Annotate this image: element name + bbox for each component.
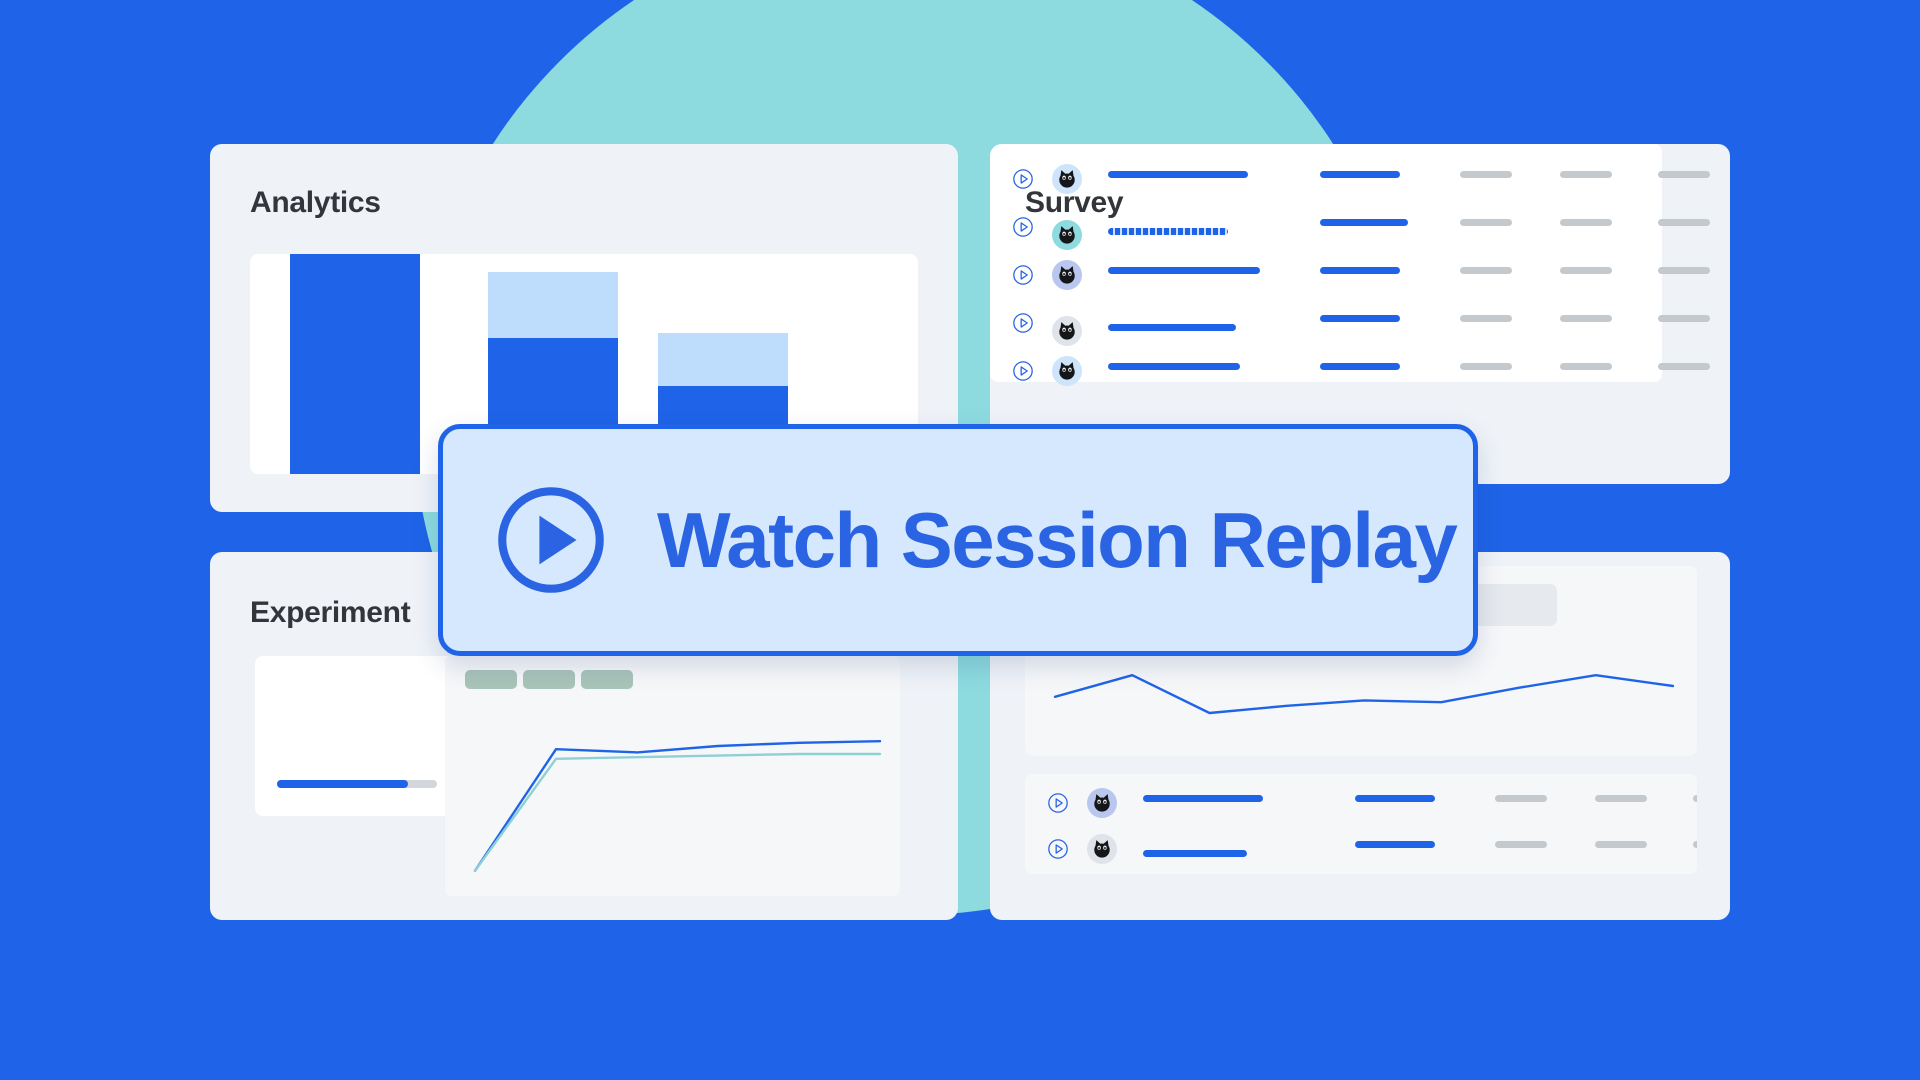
table-row[interactable] [990, 302, 1662, 350]
placeholder-bar-gray [1693, 841, 1697, 848]
placeholder-bar-gray [1460, 315, 1512, 322]
play-circle-icon[interactable] [1012, 312, 1034, 334]
experiment-line-chart [445, 656, 900, 896]
avatar [1087, 788, 1117, 818]
experiment-card-title: Experiment [250, 596, 410, 630]
insights-table [1025, 774, 1697, 874]
placeholder-bar-gray [1460, 363, 1512, 370]
placeholder-bar-gray [1658, 171, 1662, 178]
play-circle-icon [493, 482, 609, 598]
avatar [1087, 834, 1117, 864]
placeholder-bar-blue [1108, 171, 1248, 178]
analytics-bar [290, 254, 420, 474]
avatar [1052, 164, 1082, 194]
watch-session-replay-label: Watch Session Replay [657, 501, 1456, 579]
placeholder-bar-blue [1143, 850, 1247, 857]
table-row[interactable] [1025, 828, 1697, 874]
placeholder-bar-gray [1693, 795, 1697, 802]
placeholder-bar-gray [1658, 315, 1662, 322]
placeholder-bar-gray [1460, 171, 1512, 178]
experiment-progress-fill [277, 780, 408, 788]
placeholder-bar-gray [1658, 267, 1662, 274]
placeholder-bar-blue [1320, 171, 1400, 178]
placeholder-bar-gray [1460, 219, 1512, 226]
placeholder-bar-blue [1108, 363, 1240, 370]
watch-session-replay-button[interactable]: Watch Session Replay [438, 424, 1478, 656]
avatar [1052, 220, 1082, 250]
poster-canvas: Analytics Survey Experiment Watch Sessio… [0, 0, 1920, 1080]
placeholder-bar-blue [1320, 315, 1400, 322]
placeholder-bar-blue [1143, 795, 1263, 802]
placeholder-bar-gray [1495, 795, 1547, 802]
table-row[interactable] [990, 158, 1662, 206]
table-row[interactable] [1025, 782, 1697, 830]
analytics-bar-body [290, 254, 420, 474]
play-circle-icon[interactable] [1047, 838, 1069, 860]
placeholder-bar-blue [1320, 363, 1400, 370]
table-row[interactable] [990, 254, 1662, 302]
play-circle-icon[interactable] [1047, 792, 1069, 814]
placeholder-bar-blue [1320, 219, 1408, 226]
analytics-bar-cap [658, 333, 788, 386]
placeholder-bar-blue [1108, 228, 1228, 235]
table-row[interactable] [990, 350, 1662, 382]
placeholder-bar-gray [1560, 171, 1612, 178]
placeholder-bar-blue [1108, 267, 1260, 274]
analytics-card-title: Analytics [250, 186, 381, 220]
survey-table [990, 144, 1662, 382]
placeholder-bar-gray [1595, 841, 1647, 848]
play-circle-icon[interactable] [1012, 216, 1034, 238]
experiment-progress-track [277, 780, 437, 788]
placeholder-bar-gray [1560, 315, 1612, 322]
placeholder-bar-gray [1460, 267, 1512, 274]
play-circle-icon[interactable] [1012, 168, 1034, 190]
placeholder-bar-gray [1560, 267, 1612, 274]
avatar [1052, 316, 1082, 346]
play-circle-icon[interactable] [1012, 360, 1034, 382]
experiment-summary-tile [255, 656, 455, 816]
placeholder-bar-gray [1560, 219, 1612, 226]
placeholder-bar-blue [1108, 324, 1236, 331]
placeholder-bar-blue [1355, 841, 1435, 848]
placeholder-bar-gray [1658, 363, 1662, 370]
placeholder-bar-blue [1320, 267, 1400, 274]
avatar [1052, 356, 1082, 382]
analytics-bar-cap [488, 272, 618, 338]
table-row[interactable] [990, 206, 1662, 254]
placeholder-bar-gray [1495, 841, 1547, 848]
placeholder-bar-gray [1658, 219, 1662, 226]
play-circle-icon[interactable] [1012, 264, 1034, 286]
experiment-chart-svg [445, 656, 900, 896]
placeholder-bar-gray [1560, 363, 1612, 370]
placeholder-bar-gray [1595, 795, 1647, 802]
avatar [1052, 260, 1082, 290]
placeholder-bar-blue [1355, 795, 1435, 802]
